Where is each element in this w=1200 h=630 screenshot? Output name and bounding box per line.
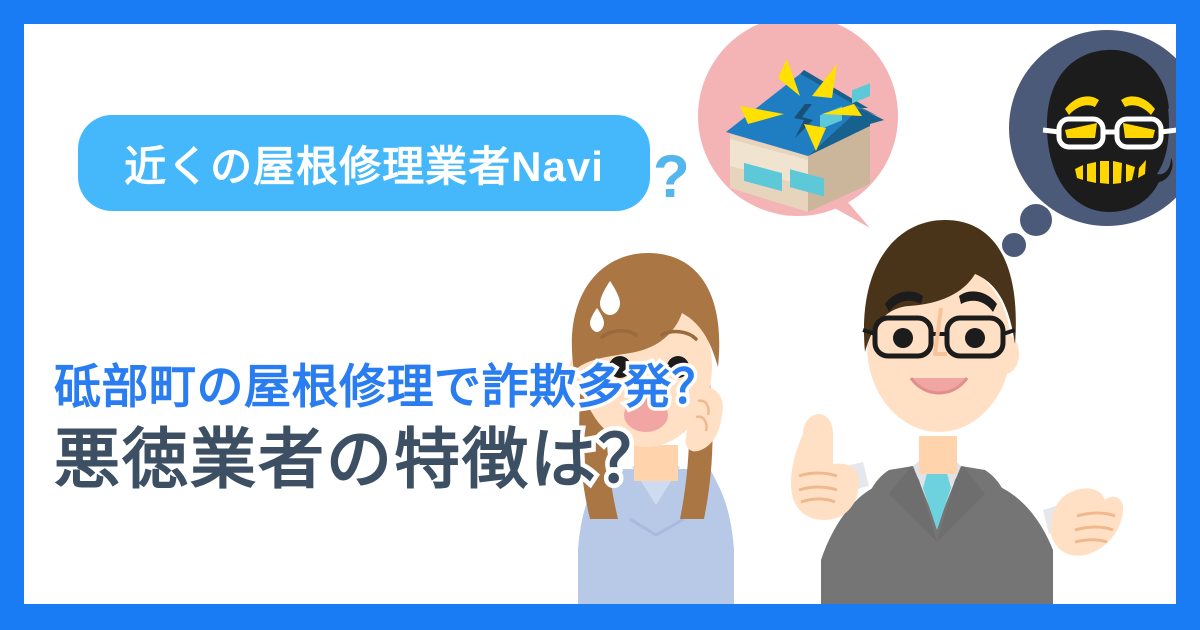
poster-inner-area: 近くの屋根修理業者Navi ? 砥部町の屋根修理で詐欺多発？ 悪徳業者の特徴は？ [24,24,1176,604]
question-mark-icon: ? [653,147,690,207]
headline-secondary: 悪徳業者の特徴は？ [54,418,874,501]
open-hand [1051,488,1123,555]
headline-primary: 砥部町の屋根修理で詐欺多発？ [54,359,874,414]
headline-block: 砥部町の屋根修理で詐欺多発？ 悪徳業者の特徴は？ [54,359,874,501]
site-badge[interactable]: 近くの屋根修理業者Navi [78,115,650,211]
poster-canvas: 近くの屋根修理業者Navi ? 砥部町の屋根修理で詐欺多発？ 悪徳業者の特徴は？ [0,0,1200,630]
site-badge-label: 近くの屋根修理業者Navi [124,133,604,194]
